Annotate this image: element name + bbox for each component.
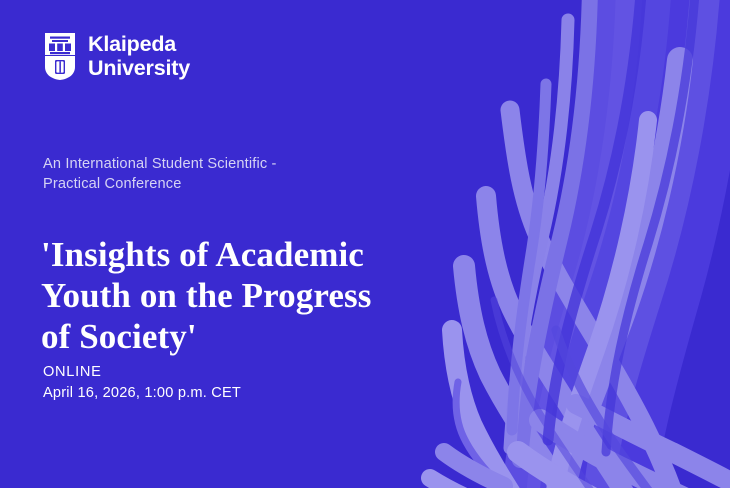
klaipeda-university-logo: Klaipeda University xyxy=(45,33,190,81)
event-datetime: April 16, 2026, 1:00 p.m. CET xyxy=(43,383,241,404)
conference-eyebrow: An International Student Scientific - Pr… xyxy=(43,154,373,194)
university-crest-icon xyxy=(45,33,75,80)
event-details: ONLINE April 16, 2026, 1:00 p.m. CET xyxy=(43,362,241,403)
page-title: 'Insights of Academic Youth on the Progr… xyxy=(41,235,381,358)
logo-wordmark: Klaipeda University xyxy=(88,33,190,81)
feather-plume-graphic xyxy=(390,0,730,488)
event-mode: ONLINE xyxy=(43,362,241,383)
conference-poster: Klaipeda University An International Stu… xyxy=(0,0,730,488)
